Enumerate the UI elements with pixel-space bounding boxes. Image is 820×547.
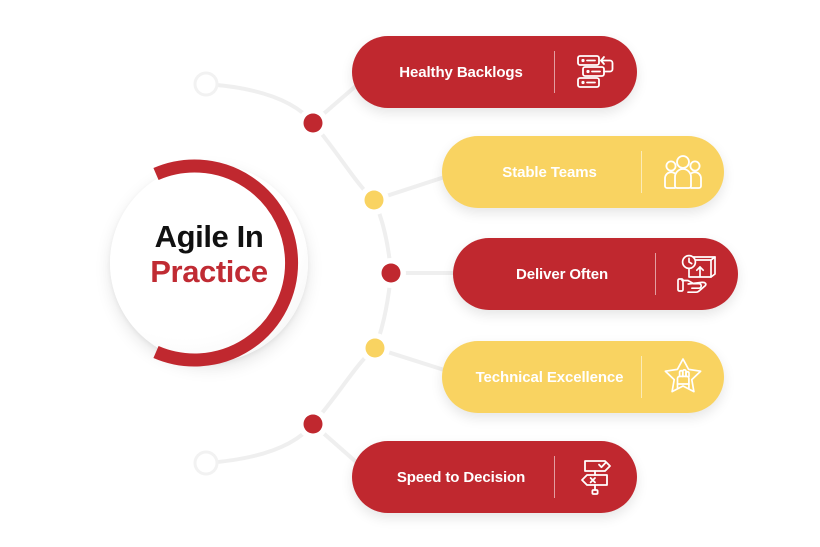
center-badge: Agile In Practice [104, 158, 314, 368]
backlog-list-icon [555, 53, 637, 91]
hand-package-clock-icon [656, 254, 738, 294]
infographic-canvas: Agile In Practice Healthy Backlogs [0, 0, 820, 547]
item-label-speed-to-decision: Speed to Decision [352, 469, 554, 486]
center-title: Agile In Practice [104, 220, 314, 289]
node-dot-healthy-backlogs[interactable] [298, 108, 328, 138]
node-dot-speed-to-decision[interactable] [298, 409, 328, 439]
node-dot-stable-teams[interactable] [359, 185, 389, 215]
people-group-icon [642, 153, 724, 191]
item-label-healthy-backlogs: Healthy Backlogs [352, 64, 554, 81]
arc-top-end-cap [195, 73, 217, 95]
item-pill-healthy-backlogs[interactable]: Healthy Backlogs [352, 36, 637, 108]
item-pill-technical-excellence[interactable]: Technical Excellence [442, 341, 724, 413]
item-pill-stable-teams[interactable]: Stable Teams [442, 136, 724, 208]
node-dot-deliver-often[interactable] [376, 258, 406, 288]
item-pill-deliver-often[interactable]: Deliver Often [453, 238, 738, 310]
item-label-deliver-often: Deliver Often [453, 266, 655, 283]
item-pill-speed-to-decision[interactable]: Speed to Decision [352, 441, 637, 513]
node-dot-technical-excellence[interactable] [360, 333, 390, 363]
center-title-line1: Agile In [104, 220, 314, 255]
arc-bottom-end-cap [195, 452, 217, 474]
signpost-decision-icon [555, 457, 637, 497]
star-fist-icon [642, 357, 724, 397]
center-title-line2: Practice [104, 255, 314, 290]
item-label-technical-excellence: Technical Excellence [442, 369, 641, 386]
item-label-stable-teams: Stable Teams [442, 164, 641, 181]
